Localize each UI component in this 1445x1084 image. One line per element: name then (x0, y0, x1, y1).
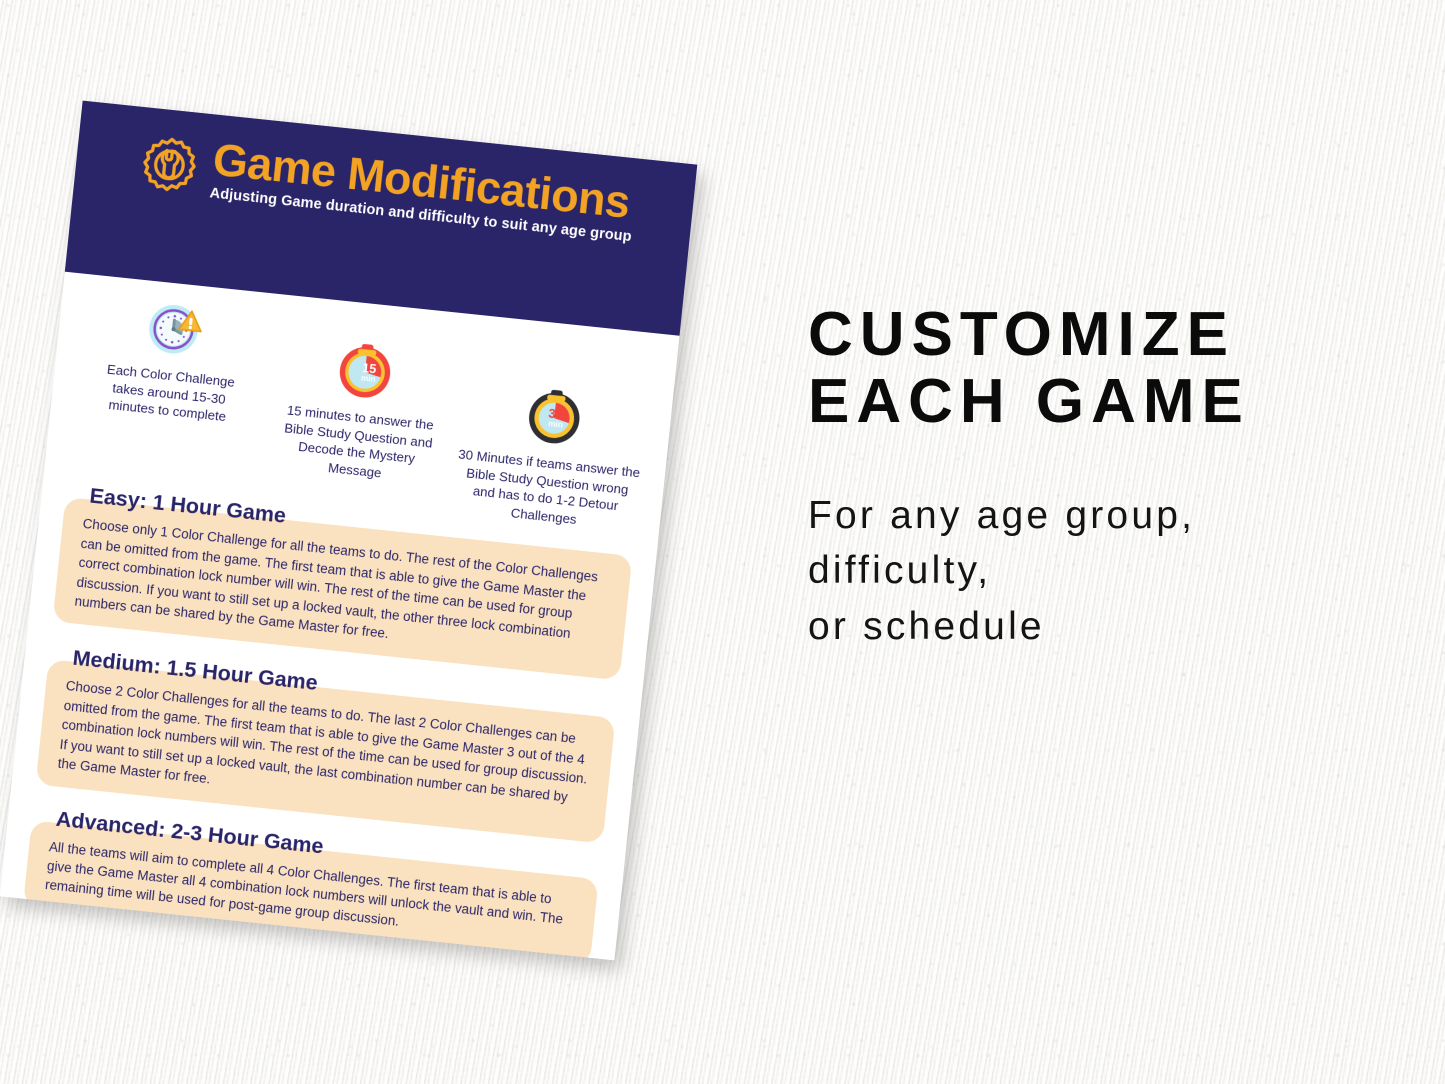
timing-column: 30 min 30 Minutes if teams answer the Bi… (449, 376, 651, 535)
timing-column: 15 min 15 minutes to answer the Bible St… (257, 330, 462, 515)
timing-caption: Each Color Challenge takes around 15-30 … (91, 359, 248, 427)
promo-subline-1: For any age group, (808, 488, 1408, 543)
timing-caption: 15 minutes to answer the Bible Study Que… (270, 400, 444, 487)
svg-text:min: min (360, 374, 375, 384)
promo-subline-2: difficulty, (808, 543, 1408, 598)
difficulty-sections: Easy: 1 Hour Game Choose only 1 Color Ch… (0, 473, 659, 961)
promo-headline-line-2: EACH GAME (808, 369, 1408, 436)
clock-warning-icon (142, 294, 210, 362)
gear-wrench-icon (135, 131, 203, 199)
worksheet-page: Game Modifications Adjusting Game durati… (0, 101, 697, 961)
promo-headline-line-1: CUSTOMIZE (808, 302, 1408, 369)
stopwatch-15min-icon: 15 min (331, 336, 399, 404)
stopwatch-30min-icon: 30 min (520, 382, 588, 450)
svg-text:min: min (547, 419, 562, 429)
promo-copy: CUSTOMIZE EACH GAME For any age group, d… (808, 302, 1408, 654)
timing-column: Each Color Challenge takes around 15-30 … (66, 288, 273, 495)
printable-page-mockup: Game Modifications Adjusting Game durati… (0, 101, 697, 961)
promo-subline-3: or schedule (808, 599, 1408, 654)
